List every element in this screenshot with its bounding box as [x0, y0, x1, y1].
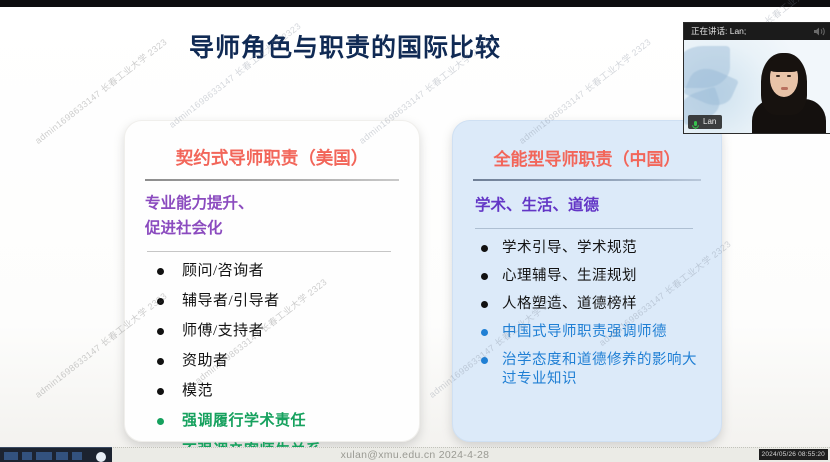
video-stage: Lan — [684, 40, 830, 133]
speaking-now-label: 正在讲话: Lan; — [691, 26, 746, 36]
list-item: 辅导者/引导者 — [143, 292, 401, 311]
participant-name: Lan — [703, 117, 716, 127]
list-item: 心理辅导、生涯规划 — [471, 267, 703, 286]
left-card-title-divider — [145, 179, 399, 181]
right-card-title-divider — [473, 179, 701, 181]
bullet-dot-icon — [481, 245, 488, 252]
left-card-title: 契约式导师职责（美国） — [143, 145, 401, 170]
taskbar-item[interactable] — [72, 452, 82, 460]
bullet-dot-icon — [157, 418, 164, 425]
slide-title: 导师角色与职责的国际比较 — [0, 28, 690, 64]
slide-footer-text: xulan@xmu.edu.cn 2024-4-28 — [0, 448, 830, 462]
left-card-subtitle-line-1: 专业能力提升、 — [145, 191, 401, 216]
left-card-bullet-list: 顾问/咨询者 辅导者/引导者 师傅/支持者 资助者 模范 — [143, 262, 401, 461]
os-taskbar-sliver[interactable] — [0, 447, 112, 462]
card-allround-mentor-cn: 全能型导师职责（中国） 学术、生活、道德 学术引导、学术规范 心理辅导、生涯规划… — [452, 120, 722, 442]
bullet-dot-icon — [157, 358, 164, 365]
right-card-title: 全能型导师职责（中国） — [471, 145, 703, 170]
taskbar-item[interactable] — [4, 452, 18, 460]
list-item: 学术引导、学术规范 — [471, 239, 703, 258]
bullet-dot-icon — [157, 388, 164, 395]
participant-name-badge: Lan — [688, 115, 722, 129]
bullet-text: 治学态度和道德修养的影响大过专业知识 — [502, 351, 703, 389]
speaker-icon[interactable] — [813, 26, 826, 37]
right-card-subtitle-line-1: 学术、生活、道德 — [475, 193, 703, 218]
card-contractual-mentor-us: 契约式导师职责（美国） 专业能力提升、 促进社会化 顾问/咨询者 辅导者/引导者 — [124, 120, 420, 442]
right-card-subtitle: 学术、生活、道德 — [471, 193, 703, 218]
right-card-bullet-list: 学术引导、学术规范 心理辅导、生涯规划 人格塑造、道德榜样 中国式导师职责强调师… — [471, 239, 703, 389]
bullet-text: 人格塑造、道德榜样 — [502, 295, 637, 314]
list-item-highlight: 中国式导师职责强调师德 — [471, 323, 703, 342]
list-item: 师傅/支持者 — [143, 322, 401, 341]
taskbar-item[interactable] — [36, 452, 52, 460]
bullet-dot-icon — [481, 273, 488, 280]
bullet-text: 资助者 — [182, 352, 229, 371]
bullet-text: 模范 — [182, 382, 213, 401]
bullet-dot-icon — [481, 357, 488, 364]
list-item-highlight: 强调履行学术责任 — [143, 412, 401, 431]
video-panel-header: 正在讲话: Lan; — [684, 23, 830, 40]
taskbar-indicator-dot[interactable] — [96, 452, 106, 462]
bullet-dot-icon — [157, 268, 164, 275]
bullet-dot-icon — [157, 328, 164, 335]
bullet-text: 辅导者/引导者 — [182, 292, 280, 311]
bullet-text: 心理辅导、生涯规划 — [502, 267, 637, 286]
left-card-subtitle: 专业能力提升、 促进社会化 — [143, 191, 401, 241]
bullet-text: 师傅/支持者 — [182, 322, 264, 341]
bullet-text: 强调履行学术责任 — [182, 412, 306, 431]
recording-timestamp: 2024/05/26 08:55:20 — [759, 449, 828, 460]
bullet-text: 学术引导、学术规范 — [502, 239, 637, 258]
bullet-text: 中国式导师职责强调师德 — [502, 323, 667, 342]
screen-capture: 导师角色与职责的国际比较 契约式导师职责（美国） 专业能力提升、 促进社会化 顾… — [0, 0, 830, 462]
speaker-video-panel[interactable]: 正在讲话: Lan; — [683, 22, 830, 134]
taskbar-item[interactable] — [56, 452, 68, 460]
bullet-dot-icon — [481, 301, 488, 308]
bullet-text: 顾问/咨询者 — [182, 262, 264, 281]
list-item-highlight: 治学态度和道德修养的影响大过专业知识 — [471, 351, 703, 389]
microphone-icon — [691, 117, 700, 127]
bullet-dot-icon — [481, 329, 488, 336]
taskbar-item[interactable] — [22, 452, 32, 460]
list-item: 顾问/咨询者 — [143, 262, 401, 281]
list-item: 模范 — [143, 382, 401, 401]
list-item: 资助者 — [143, 352, 401, 371]
list-item: 人格塑造、道德榜样 — [471, 295, 703, 314]
right-card-subtitle-divider — [475, 228, 693, 229]
left-card-subtitle-divider — [147, 251, 391, 252]
window-top-chrome-bar — [0, 0, 830, 7]
left-card-subtitle-line-2: 促进社会化 — [145, 216, 401, 241]
participant-video-image — [752, 51, 830, 133]
bullet-dot-icon — [157, 298, 164, 305]
